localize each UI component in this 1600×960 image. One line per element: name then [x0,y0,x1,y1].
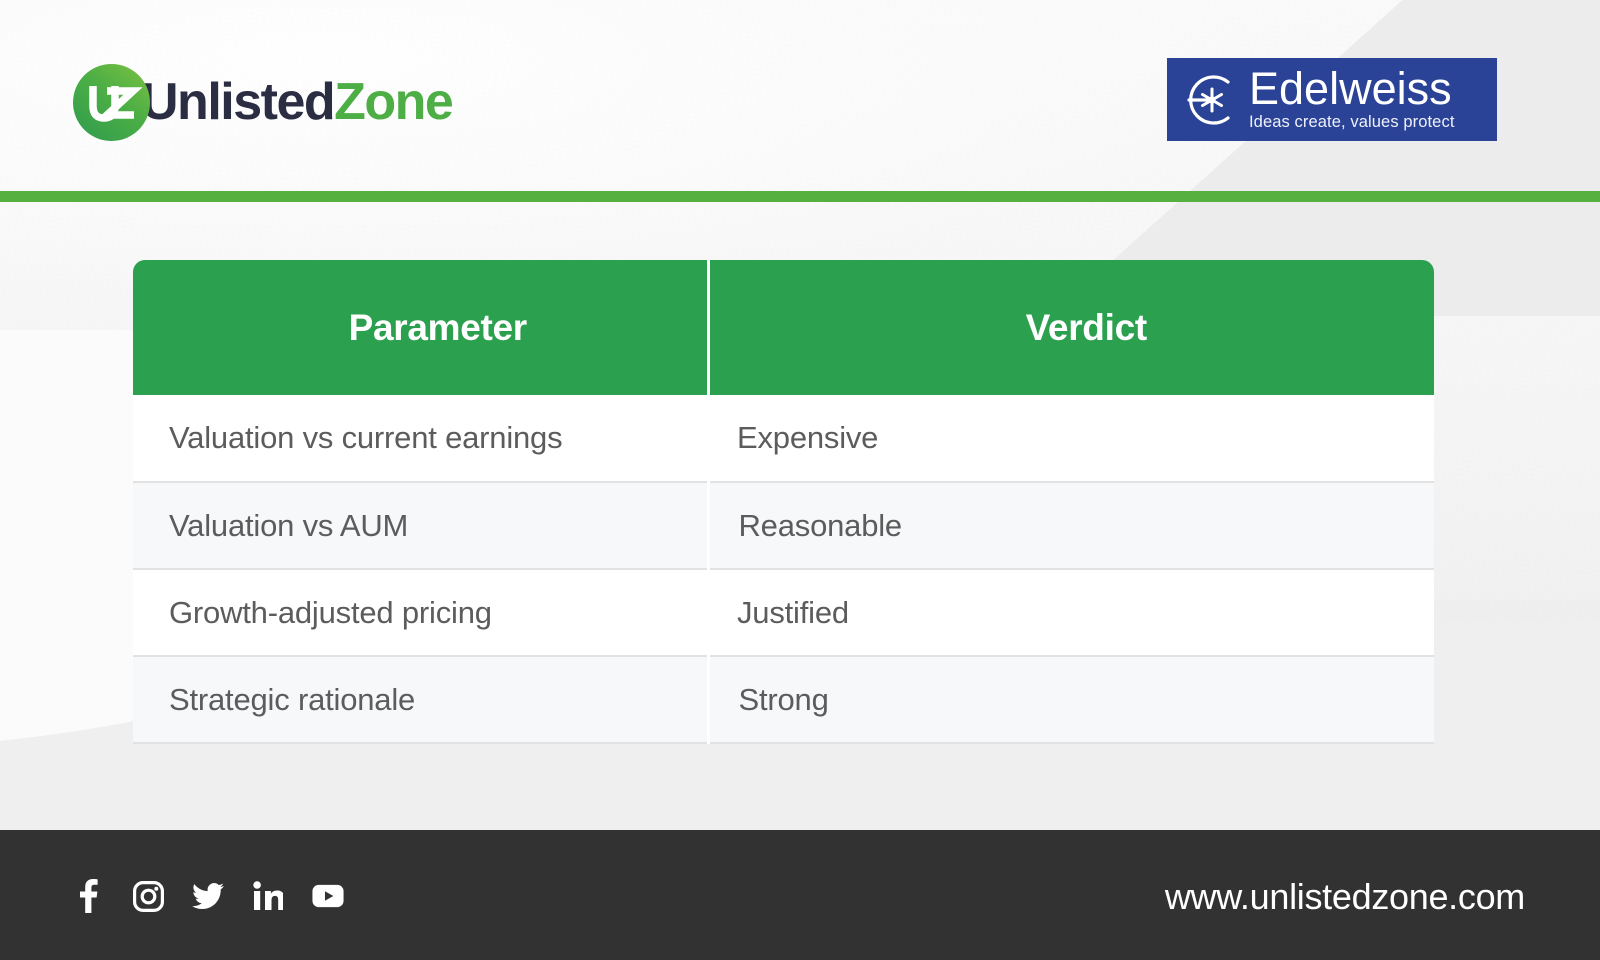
social-links [72,880,344,912]
cell-verdict: Reasonable [708,482,1434,569]
table-row: Growth-adjusted pricing Justified [133,569,1434,656]
table-row: Strategic rationale Strong [133,656,1434,743]
brand-name-part-1: Unlisted [141,73,334,131]
brand-name-part-2: Zone [334,73,452,131]
youtube-icon[interactable] [312,880,344,912]
cell-parameter: Strategic rationale [133,656,708,743]
table-row: Valuation vs current earnings Expensive [133,395,1434,482]
table-row: Valuation vs AUM Reasonable [133,482,1434,569]
table-head: Parameter Verdict [133,260,1434,395]
slide-root: UnlistedZone Edelweiss Ideas create, val… [0,0,1600,960]
edelweiss-name: Edelweiss [1249,68,1455,111]
uz-monogram-icon [73,64,150,141]
slide-footer: www.unlistedzone.com [0,830,1600,960]
table-body: Valuation vs current earnings Expensive … [133,395,1434,743]
cell-parameter: Valuation vs AUM [133,482,708,569]
cell-parameter: Valuation vs current earnings [133,395,708,482]
instagram-icon[interactable] [132,880,164,912]
column-header-parameter: Parameter [133,260,708,395]
twitter-icon[interactable] [192,880,224,912]
slide-header: UnlistedZone Edelweiss Ideas create, val… [0,0,1600,193]
facebook-icon[interactable] [72,880,104,912]
cell-verdict: Strong [708,656,1434,743]
header-green-divider [0,191,1600,202]
edelweiss-snowflake-icon [1181,69,1243,131]
linkedin-icon[interactable] [252,880,284,912]
edelweiss-tagline: Ideas create, values protect [1249,112,1455,133]
cell-verdict: Expensive [708,395,1434,482]
cell-verdict: Justified [708,569,1434,656]
cell-parameter: Growth-adjusted pricing [133,569,708,656]
edelweiss-logo[interactable]: Edelweiss Ideas create, values protect [1167,58,1497,141]
website-url[interactable]: www.unlistedzone.com [1165,876,1525,918]
table-header-row: Parameter Verdict [133,260,1434,395]
column-header-verdict: Verdict [708,260,1434,395]
brand-wordmark: UnlistedZone [141,76,452,128]
unlistedzone-logo[interactable]: UnlistedZone [73,62,452,142]
verdict-table: Parameter Verdict Valuation vs current e… [133,260,1434,744]
